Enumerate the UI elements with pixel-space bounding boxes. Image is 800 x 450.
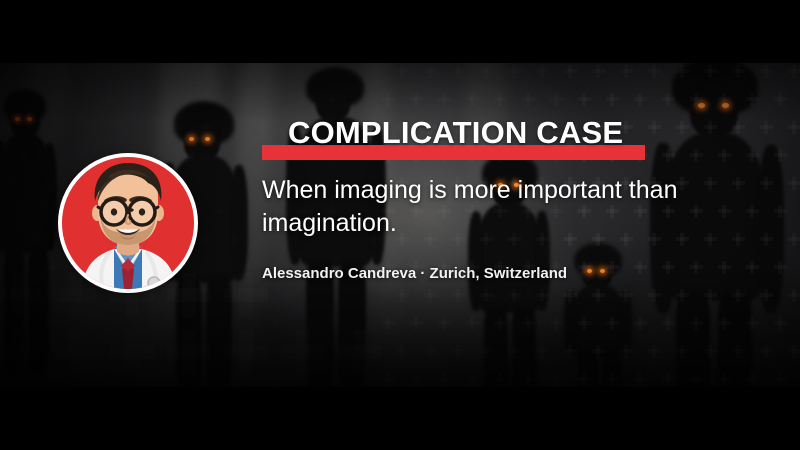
presenter-avatar — [58, 153, 198, 293]
kicker-container: COMPLICATION CASE — [262, 116, 782, 162]
kicker-label: COMPLICATION CASE — [288, 116, 623, 150]
letterbox-bar-bottom — [0, 387, 800, 450]
video-slide: COMPLICATION CASE When imaging is more i… — [0, 0, 800, 450]
presenter-byline: Alessandro Candreva · Zurich, Switzerlan… — [262, 264, 782, 284]
avatar-illustration — [62, 157, 194, 289]
letterbox-bar-top — [0, 0, 800, 63]
slide-text-content: COMPLICATION CASE When imaging is more i… — [262, 63, 782, 284]
slide-headline: When imaging is more important than imag… — [262, 174, 722, 240]
